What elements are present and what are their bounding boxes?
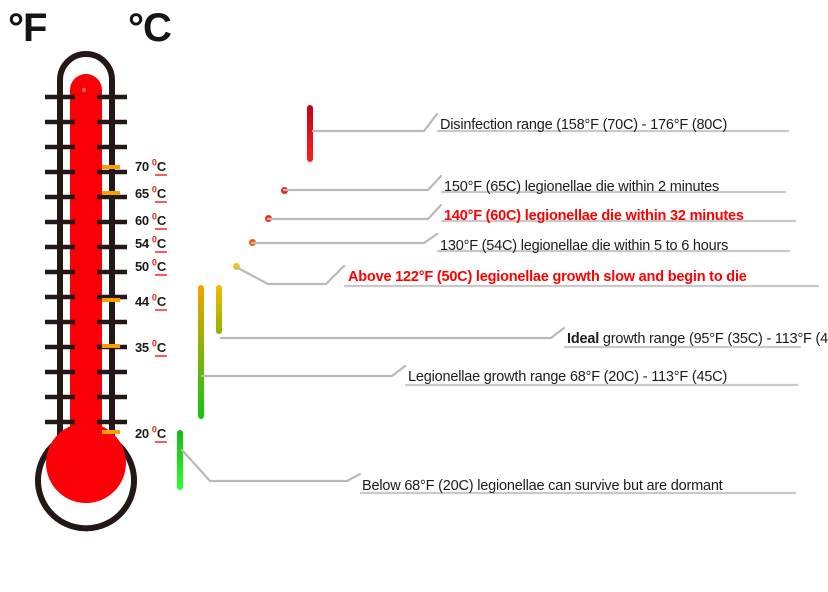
celsius-letter: C [157, 236, 166, 251]
callout-label: Disinfection range (158°F (70C) - 176°F … [440, 117, 727, 133]
temp-label-unit: 0C [152, 260, 166, 273]
disinfection-bar [307, 105, 313, 162]
callout-130f: 130°F (54C) legionellae die within 5 to … [440, 237, 728, 255]
dot-150f [281, 187, 288, 194]
temp-label-unit: 0C [152, 187, 166, 200]
callout-bold-prefix: Ideal [567, 331, 603, 347]
callout-140f: 140°F (60C) legionellae die within 32 mi… [444, 207, 744, 225]
dot-122f [233, 263, 240, 270]
mercury-bulb [46, 423, 126, 503]
temp-label-value: 60 [135, 213, 149, 228]
callout-150f: 150°F (65C) legionellae die within 2 min… [444, 178, 719, 196]
temp-label-unit: 0C [152, 341, 166, 354]
callout-ideal-growth: Ideal growth range (95°F (35C) - 113°F (… [567, 330, 828, 348]
temp-label-35c: 350C [135, 341, 166, 356]
temp-label-value: 20 [135, 426, 149, 441]
callout-dormant: Below 68°F (20C) legionellae can survive… [362, 477, 723, 495]
celsius-letter: C [157, 159, 166, 174]
celsius-letter: C [157, 340, 166, 355]
temp-label-unit: 0C [152, 427, 166, 440]
temp-label-60c: 600C [135, 214, 166, 229]
callout-label: 130°F (54C) legionellae die within 5 to … [440, 238, 728, 254]
temp-label-unit: 0C [152, 237, 166, 250]
ideal-growth-bar [198, 285, 204, 419]
leader-150f [284, 176, 441, 190]
celsius-letter: C [157, 186, 166, 201]
temp-label-20c: 200C [135, 427, 166, 442]
celsius-letter: C [157, 426, 166, 441]
dot-130f [249, 239, 256, 246]
callout-122f: Above 122°F (50C) legionellae growth slo… [348, 268, 747, 286]
celsius-letter: C [157, 213, 166, 228]
callout-label: Above 122°F (50C) legionellae growth slo… [348, 269, 747, 285]
leader-ideal [221, 328, 564, 338]
callout-label: 150°F (65C) legionellae die within 2 min… [444, 179, 719, 195]
leader-disinfection [313, 114, 437, 131]
celsius-letter: C [157, 294, 166, 309]
temp-label-65c: 650C [135, 187, 166, 202]
temp-label-44c: 440C [135, 295, 166, 310]
callout-label: 140°F (60C) legionellae die within 32 mi… [444, 208, 744, 224]
temp-label-54c: 540C [135, 237, 166, 252]
leader-122f [236, 266, 344, 284]
leader-growth-range [202, 366, 405, 376]
temp-label-value: 70 [135, 159, 149, 174]
fahrenheit-scale-header: °F [8, 8, 46, 48]
temp-label-unit: 0C [152, 160, 166, 173]
temp-label-70c: 700C [135, 160, 166, 175]
temp-label-value: 50 [135, 259, 149, 274]
callout-growth-range: Legionellae growth range 68°F (20C) - 11… [408, 368, 727, 386]
leader-130f [252, 234, 437, 243]
leader-140f [268, 205, 441, 219]
infographic-canvas: °F °C [0, 0, 828, 592]
temp-label-value: 54 [135, 236, 149, 251]
temp-label-unit: 0C [152, 214, 166, 227]
temp-label-unit: 0C [152, 295, 166, 308]
celsius-scale-header: °C [128, 8, 171, 48]
temp-label-50c: 500C [135, 260, 166, 275]
celsius-letter: C [157, 259, 166, 274]
callout-label: growth range (95°F (35C) - 113°F (45C) [603, 331, 828, 347]
dot-140f [265, 215, 272, 222]
leader-dormant [182, 450, 360, 481]
temp-label-value: 35 [135, 340, 149, 355]
callout-label: Legionellae growth range 68°F (20C) - 11… [408, 369, 727, 385]
temp-label-value: 65 [135, 186, 149, 201]
callout-disinfection: Disinfection range (158°F (70C) - 176°F … [440, 116, 727, 134]
temp-label-value: 44 [135, 294, 149, 309]
mercury-highlight [82, 88, 86, 92]
callout-label: Below 68°F (20C) legionellae can survive… [362, 478, 723, 494]
mercury-column [70, 74, 102, 464]
dormant-bar [177, 430, 183, 490]
growth-slow-bar [216, 285, 222, 334]
